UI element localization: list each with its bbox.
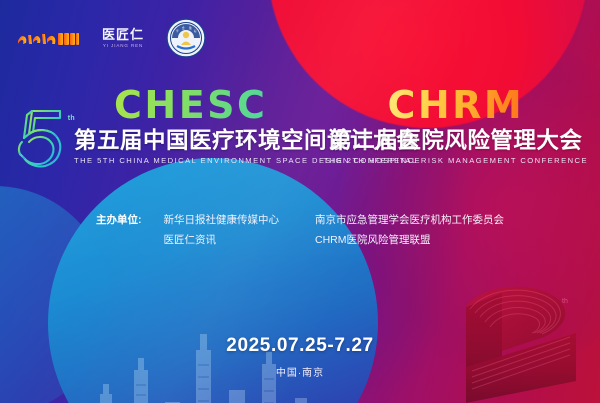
organizers-section: 主办单位: 新华日报社健康传媒中心 医匠仁资讯 南京市应急管理学会医疗机构工作委…	[0, 210, 600, 251]
organizer-item: 南京市应急管理学会医疗机构工作委员会	[315, 210, 504, 230]
event-date: 2025.07.25-7.27	[0, 336, 600, 357]
organizer-item: 新华日报社健康传媒中心	[164, 210, 280, 230]
association-seal-logo: 学会徽标	[166, 18, 206, 58]
conference-poster: th	[0, 0, 600, 403]
conference-banner: th CHESC 第五届中国医疗环境空间设计大会 THE 5TH CHINA M…	[0, 86, 600, 186]
numeral-five-icon	[14, 101, 70, 173]
svg-text:徽: 徽	[189, 26, 192, 30]
ordinal-suffix-th: th	[68, 115, 75, 122]
yijiangren-logo: 医匠仁 YI JIANG REN	[102, 28, 144, 48]
xinhua-logo-icon	[16, 27, 80, 49]
organizers-label: 主办单位:	[96, 210, 142, 230]
sponsor-logo-row: 医匠仁 YI JIANG REN 学会徽标	[16, 16, 206, 60]
chrm-title-en: THE 2TH HOSPITAL RISK MANAGEMENT CONFERE…	[324, 156, 588, 165]
organizer-item: 医匠仁资讯	[164, 230, 280, 250]
right-conference-block: CHRM 第二届医院风险管理大会 THE 2TH HOSPITAL RISK M…	[324, 86, 588, 165]
event-date-block: 2025.07.25-7.27 中国·南京	[0, 336, 600, 379]
organizer-item: CHRM医院风险管理联盟	[315, 230, 504, 250]
svg-text:会: 会	[182, 26, 185, 30]
xinhua-daily-health-media-logo	[16, 27, 80, 49]
svg-text:学: 学	[176, 29, 179, 33]
event-city: 中国·南京	[0, 364, 600, 379]
chrm-acronym: CHRM	[387, 83, 524, 127]
organizers-column-1: 新华日报社健康传媒中心 医匠仁资讯	[164, 210, 280, 251]
chrm-title-cn: 第二届医院风险管理大会	[324, 128, 588, 153]
ordinal-numeral-five: th	[14, 101, 70, 173]
yijiangren-logo-en: YI JIANG REN	[103, 44, 143, 49]
svg-text:标: 标	[194, 29, 197, 33]
yijiangren-logo-cn: 医匠仁	[102, 28, 144, 41]
association-seal-icon: 学会徽标	[166, 18, 206, 58]
svg-text:th: th	[562, 298, 568, 305]
organizers-column-2: 南京市应急管理学会医疗机构工作委员会 CHRM医院风险管理联盟	[315, 210, 504, 251]
